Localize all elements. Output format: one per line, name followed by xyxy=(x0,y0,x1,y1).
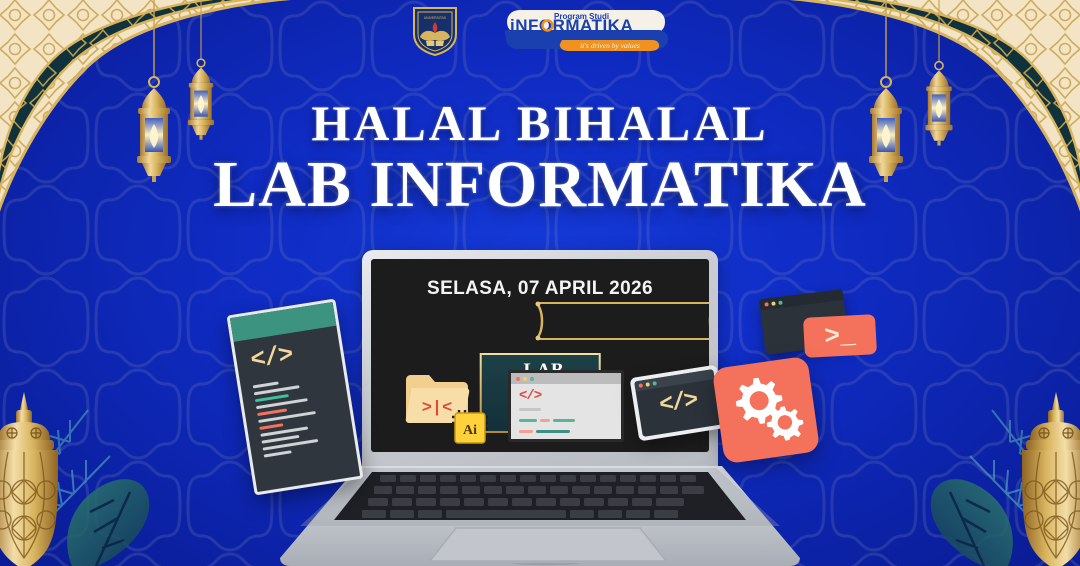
code-window-light: </> xyxy=(508,370,624,442)
ornate-lantern xyxy=(0,392,58,566)
traffic-dot-yellow xyxy=(523,377,527,381)
traffic-dot-yellow xyxy=(645,382,650,387)
brand-tagline: it's driven by values xyxy=(580,41,640,50)
traffic-dot-red xyxy=(764,302,768,306)
laptop-base xyxy=(280,466,800,566)
window-tag-text: </> xyxy=(519,388,613,404)
traffic-dot-red xyxy=(639,383,644,388)
bottom-decoration-right xyxy=(852,380,1080,566)
informatika-logo: Program Studi iNFORMATIKA it's driven by… xyxy=(502,4,668,58)
chip-shape: Ai xyxy=(448,406,492,450)
terminal-prompt-bubble: >_ xyxy=(803,314,877,358)
chip-label: Ai xyxy=(463,423,477,438)
title-line-1: HALAL BIHALAL xyxy=(0,98,1080,148)
ai-chip-icon: Ai xyxy=(448,406,492,455)
svg-text:UNIVERSITAS: UNIVERSITAS xyxy=(424,16,447,20)
header-logos: UNIVERSITAS Program Studi iNFORMATIKA it… xyxy=(0,4,1080,58)
tropical-leaves xyxy=(931,410,1072,566)
tropical-leaves xyxy=(8,410,149,566)
gears-icon xyxy=(724,368,808,452)
title-line-2: LAB INFORMATIKA xyxy=(0,150,1080,219)
traffic-dot-red xyxy=(516,377,520,381)
traffic-dot-green xyxy=(530,377,534,381)
shield-crest-icon: UNIVERSITAS xyxy=(412,4,458,56)
traffic-dot-green xyxy=(778,300,782,304)
gears-card xyxy=(718,362,814,458)
terminal-icon: >_ xyxy=(762,294,882,364)
ornate-lantern xyxy=(1022,392,1080,566)
title-block: HALAL BIHALAL LAB INFORMATIKA xyxy=(0,98,1080,219)
window-titlebar xyxy=(511,373,621,384)
code-window-tilted: </> xyxy=(634,371,722,435)
traffic-dot-yellow xyxy=(771,301,775,305)
badge-frame-icon xyxy=(526,299,709,343)
event-date: SELASA, 07 APRIL 2026 xyxy=(371,278,709,300)
informatika-wordmark: iNFORMATIKA xyxy=(510,16,633,35)
bottom-decoration-left xyxy=(0,380,228,566)
traffic-dot-green xyxy=(652,381,657,386)
poster-canvas: UNIVERSITAS Program Studi iNFORMATIKA it… xyxy=(0,0,1080,566)
